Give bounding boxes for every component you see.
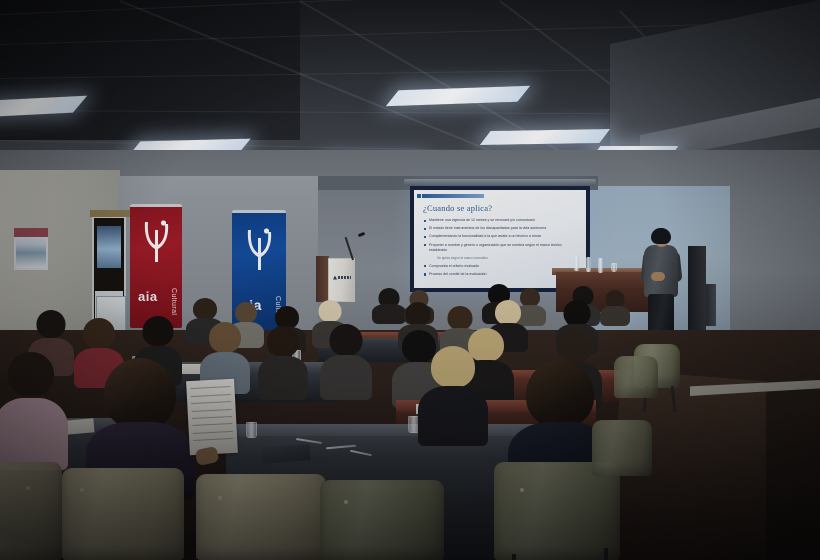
water-bottle (598, 258, 603, 273)
banner-red-wordmark: aia (138, 290, 158, 303)
person-head (193, 298, 217, 320)
chair[interactable] (320, 480, 444, 560)
person-head (431, 346, 475, 388)
chair[interactable] (0, 462, 62, 560)
slide-bullet: Mantiene una vigencia de 12 meses y se r… (423, 218, 579, 223)
chair[interactable] (592, 420, 652, 476)
document (262, 444, 311, 463)
person-head (104, 358, 176, 430)
lectern-logo-mark (333, 276, 337, 280)
person-shoulders (600, 306, 630, 326)
document-line (193, 438, 233, 441)
person-head (448, 306, 473, 330)
document-line (191, 409, 231, 412)
conference-room-photo: aia Cultural aia Cultural ¿Cuando se apl… (0, 0, 820, 560)
chair-leg (604, 548, 608, 560)
chair[interactable] (614, 356, 658, 398)
person-head (330, 324, 363, 356)
chair-stud (80, 488, 84, 492)
document-line (193, 431, 233, 434)
banner-red: aia Cultural (130, 204, 182, 328)
slide-bullet: Complementando la funcionalidad a la que… (423, 234, 579, 239)
document-line (191, 394, 231, 397)
banner-red-subtext: Cultural (170, 288, 177, 315)
person-shoulders (0, 398, 68, 470)
person-head (495, 300, 521, 325)
person-head (83, 318, 115, 349)
presenter-hand (651, 272, 665, 281)
chair[interactable] (494, 462, 620, 560)
water-bottle (574, 256, 579, 271)
chair[interactable] (62, 468, 184, 560)
person-shoulders (418, 386, 488, 446)
person-head (235, 302, 257, 323)
person-head (558, 330, 592, 363)
trident-logo-icon (139, 218, 173, 264)
slide-subnote: Se aplica según el marco normativo (423, 256, 579, 261)
audience-person (600, 290, 630, 326)
water-bottle (586, 257, 591, 272)
audience-person (418, 346, 488, 446)
person-head (526, 360, 594, 428)
person-head (319, 300, 342, 322)
ceiling-light (480, 129, 610, 145)
audience-person (0, 352, 68, 470)
audience-person (320, 324, 372, 400)
door-lintel (90, 210, 130, 217)
av-equipment (688, 246, 706, 330)
chair-stud (344, 500, 348, 504)
presenter-hair (651, 228, 671, 244)
chair-stud (218, 496, 222, 500)
chair[interactable] (196, 474, 326, 560)
person-head (143, 316, 174, 346)
room-pillar (724, 120, 820, 560)
av-equipment (706, 284, 716, 326)
presenter (640, 228, 682, 336)
drinking-glass (246, 422, 257, 438)
document-line (191, 401, 231, 404)
person-head (267, 326, 299, 357)
slide-header-bar (422, 194, 484, 198)
screen-roller (404, 179, 596, 186)
lectern (328, 258, 355, 302)
banner-top-rail (232, 210, 286, 213)
person-head (37, 310, 66, 338)
drinking-glass (611, 263, 617, 272)
person-head (406, 302, 431, 326)
slide-bullet: Proponer a nombre y género u organizació… (423, 243, 579, 253)
document-line (190, 386, 230, 389)
banner-top-rail (130, 204, 182, 207)
person-head (8, 352, 54, 396)
person-head (564, 300, 591, 326)
slide-marker (417, 194, 421, 198)
ceiling-shadow-left (0, 0, 300, 140)
person-shoulders (258, 356, 308, 400)
document-line (192, 423, 232, 426)
chair-leg (512, 554, 516, 560)
lectern-logo-icon (333, 275, 351, 280)
slide-bullet: El estado tiene instrumentos de los disc… (423, 226, 579, 231)
trident-logo-icon (241, 226, 277, 272)
person-head (209, 322, 241, 353)
chair-stud (26, 486, 30, 490)
door-window (97, 226, 121, 268)
presenter-torso (644, 245, 678, 297)
lectern-logo-text (338, 276, 351, 279)
chair-stud (520, 488, 524, 492)
audience-person (258, 326, 308, 400)
person-shoulders (320, 355, 372, 400)
wall-poster-header (14, 228, 48, 237)
document-line (192, 416, 232, 419)
held-document (186, 379, 238, 455)
slide-title: ¿Cuando se aplica? (423, 203, 579, 213)
